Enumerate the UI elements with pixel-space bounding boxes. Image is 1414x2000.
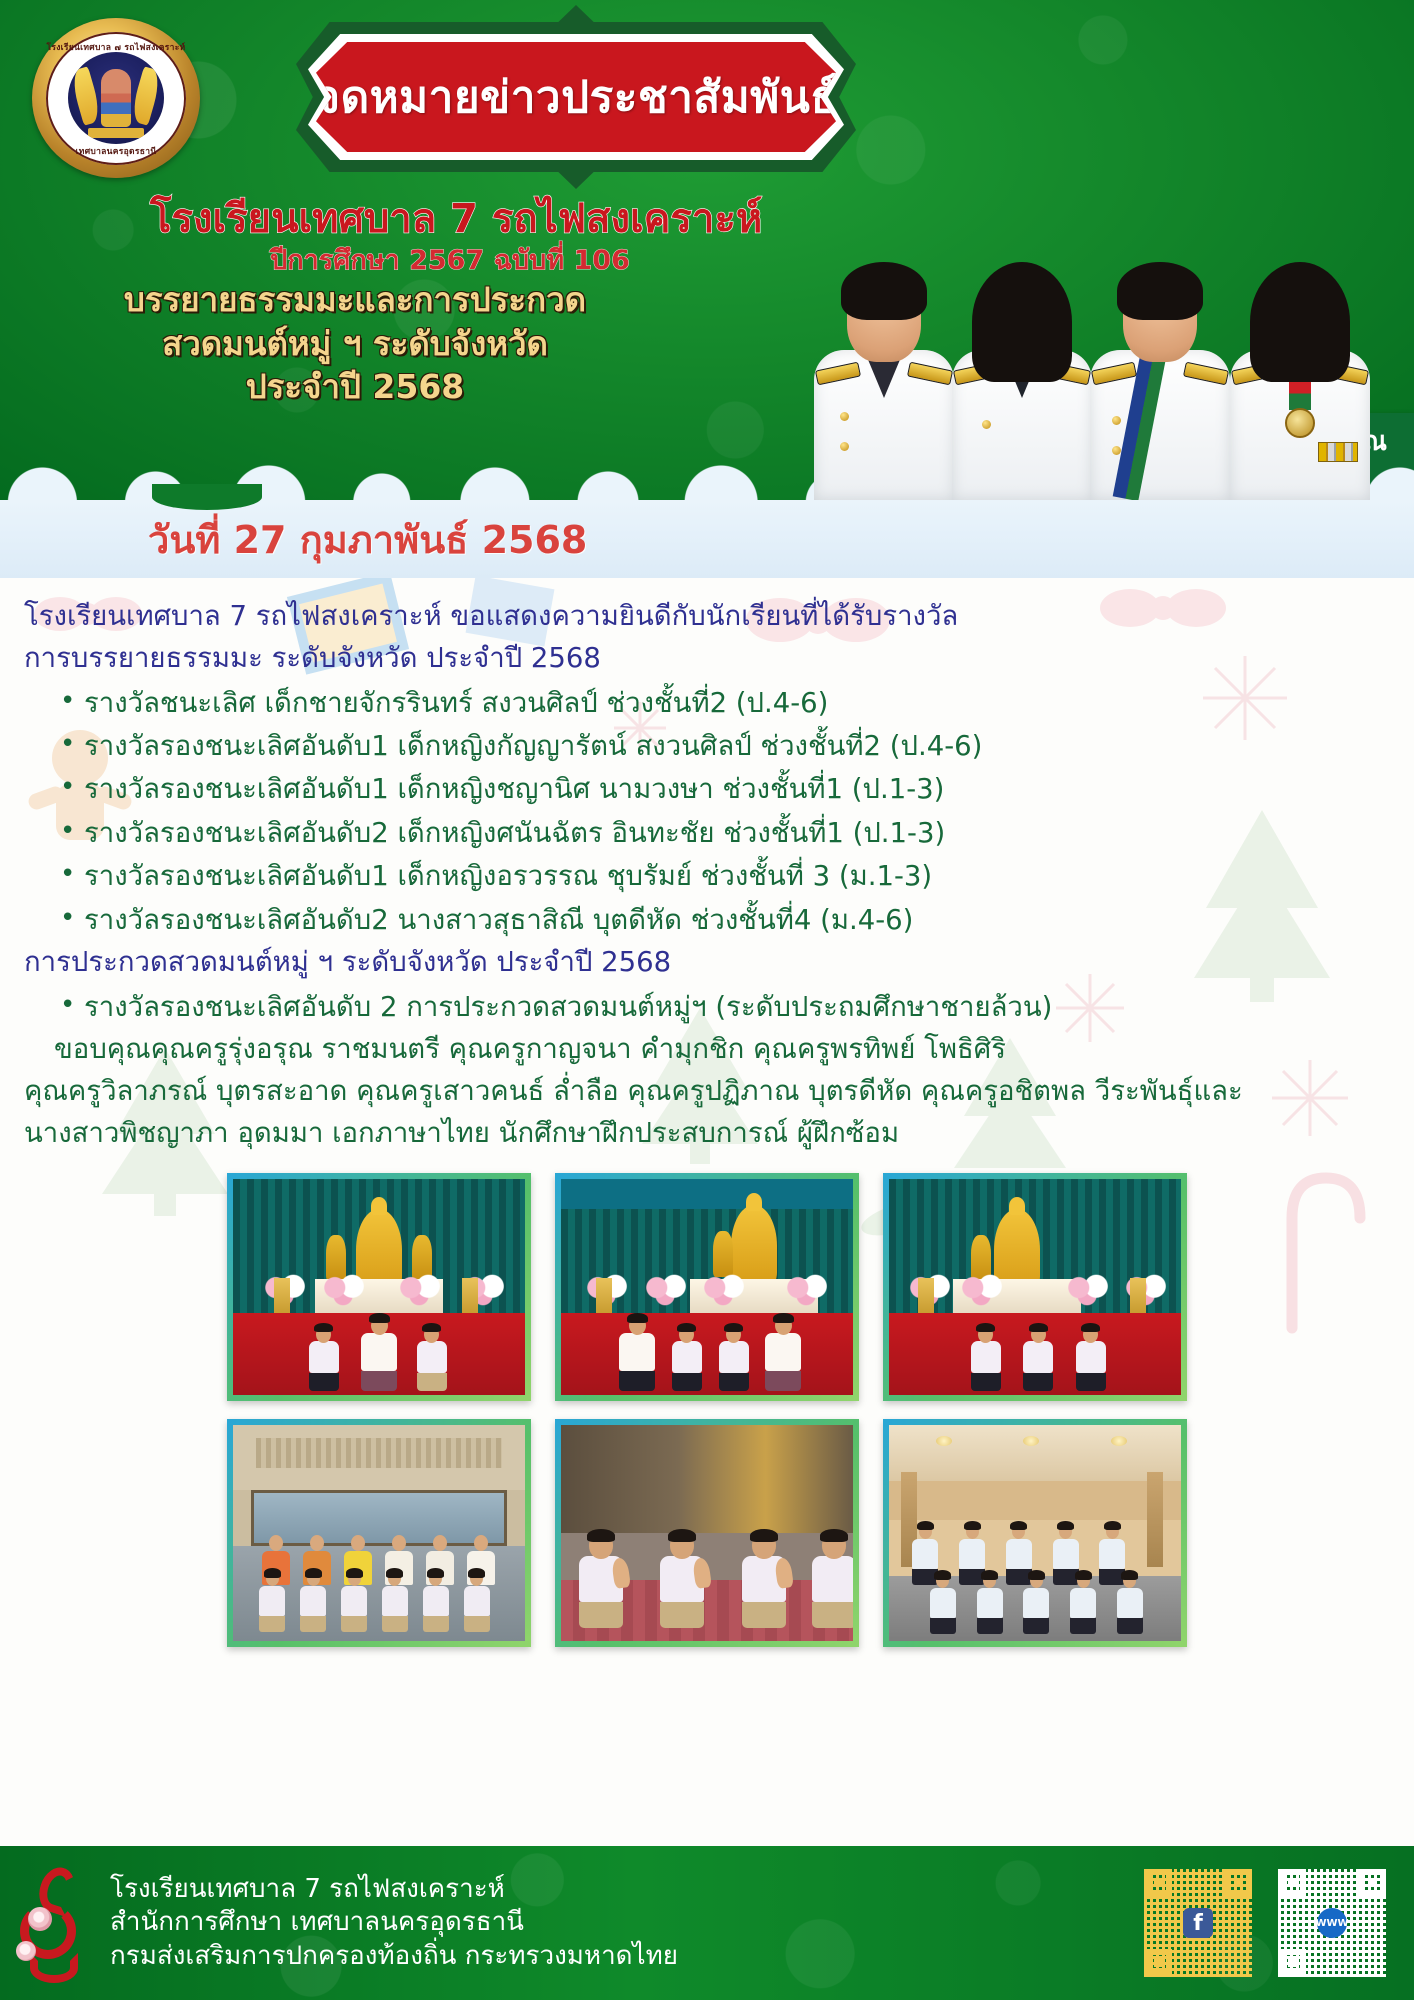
official-portrait-4	[1230, 270, 1370, 500]
qr-code-area: f WWW	[1144, 1869, 1386, 1977]
official-portrait-1	[814, 270, 954, 500]
thanks-line-1: ขอบคุณคุณครูรุ่งอรุณ ราชมนตรี คุณครูกาญจ…	[24, 1029, 1388, 1071]
topic-line-1: บรรยายธรรมมะและการประกวด	[20, 278, 690, 322]
poster-footer: โรงเรียนเทศบาล 7 รถไฟสงเคราะห์ สำนักการศ…	[0, 1846, 1414, 2000]
award-item: รางวัลรองชนะเลิศอันดับ2 เด็กหญิงศนันฉัตร…	[24, 812, 1388, 855]
qr-code-facebook[interactable]: f	[1144, 1869, 1252, 1977]
topic-line-2: สวดมนต์หมู่ ฯ ระดับจังหวัด	[20, 322, 690, 366]
footer-line-1: โรงเรียนเทศบาล 7 รถไฟสงเคราะห์	[110, 1873, 678, 1906]
photo-1	[227, 1173, 531, 1401]
official-portrait-2	[952, 270, 1092, 500]
award-item: รางวัลรองชนะเลิศอันดับ 2 การประกวดสวดมนต…	[24, 986, 1388, 1029]
thanks-line-2: คุณครูวิลาภรณ์ บุตรสะอาด คุณครูเสาวคนธ์ …	[24, 1071, 1388, 1113]
award-item: รางวัลรองชนะเลิศอันดับ1 เด็กหญิงชญานิศ น…	[24, 768, 1388, 811]
photo-4	[227, 1419, 531, 1647]
body-content: โรงเรียนเทศบาล 7 รถไฟสงเคราะห์ ขอแสดงควา…	[0, 578, 1414, 1155]
topic-line-3: ประจำปี 2568	[20, 365, 690, 409]
footer-line-2: สำนักการศึกษา เทศบาลนครอุดรธานี	[110, 1906, 678, 1939]
official-portrait-3	[1090, 270, 1230, 500]
photo-5	[555, 1419, 859, 1647]
issue-line: ปีการศึกษา 2567 ฉบับที่ 106	[150, 238, 750, 281]
newsletter-poster: โรงเรียนเทศบาล ๗ รถไฟสงเคราะห์ เทศบาลนคร…	[0, 0, 1414, 2000]
photo-6	[883, 1419, 1187, 1647]
green-drip-shape	[152, 484, 262, 510]
ribbon-label: จดหมายข่าวประชาสัมพันธ์	[314, 62, 837, 132]
intro-line-1: โรงเรียนเทศบาล 7 รถไฟสงเคราะห์ ขอแสดงควา…	[24, 596, 1388, 638]
award-item: รางวัลรองชนะเลิศอันดับ2 นางสาวสุธาสิณี บ…	[24, 899, 1388, 942]
newsletter-ribbon-banner: จดหมายข่าวประชาสัมพันธ์	[296, 22, 856, 172]
photo-3	[883, 1173, 1187, 1401]
section2-heading: การประกวดสวดมนต์หมู่ ฯ ระดับจังหวัด ประจ…	[24, 942, 1388, 984]
poster-header: โรงเรียนเทศบาล ๗ รถไฟสงเคราะห์ เทศบาลนคร…	[0, 0, 1414, 500]
photo-2	[555, 1173, 859, 1401]
thanks-line-3: นางสาวพิชญาภา อุดมมา เอกภาษาไทย นักศึกษา…	[24, 1113, 1388, 1155]
award-list-2: รางวัลรองชนะเลิศอันดับ 2 การประกวดสวดมนต…	[24, 986, 1388, 1029]
award-item: รางวัลรองชนะเลิศอันดับ1 เด็กหญิงกัญญารัต…	[24, 725, 1388, 768]
poster-body: โรงเรียนเทศบาล 7 รถไฟสงเคราะห์ ขอแสดงควา…	[0, 578, 1414, 1846]
qr-code-website[interactable]: WWW	[1278, 1869, 1386, 1977]
officials-photo-group: นางธนพร แก้วชารุณ ผู้อำนวยการสถานศึกษา	[774, 196, 1414, 500]
footer-line-3: กรมส่งเสริมการปกครองท้องถิ่น กระทรวงมหาด…	[110, 1940, 678, 1973]
date-band: วันที่ 27 กุมภาพันธ์ 2568	[0, 500, 1414, 578]
school-seal: โรงเรียนเทศบาล ๗ รถไฟสงเคราะห์ เทศบาลนคร…	[32, 18, 200, 178]
seal-emblem-icon	[68, 52, 164, 144]
globe-icon: WWW	[1317, 1908, 1347, 1938]
award-item: รางวัลชนะเลิศ เด็กชายจักรรินทร์ สงวนศิลป…	[24, 682, 1388, 725]
seal-bottom-text: เทศบาลนครอุดรธานี	[46, 144, 186, 158]
intro-line-2: การบรรยายธรรมมะ ระดับจังหวัด ประจำปี 256…	[24, 638, 1388, 680]
event-date: วันที่ 27 กุมภาพันธ์ 2568	[148, 509, 587, 570]
naga-serpent-icon	[14, 1863, 94, 1983]
footer-address: โรงเรียนเทศบาล 7 รถไฟสงเคราะห์ สำนักการศ…	[110, 1873, 678, 1973]
award-list-1: รางวัลชนะเลิศ เด็กชายจักรรินทร์ สงวนศิลป…	[24, 682, 1388, 943]
topic-heading: บรรยายธรรมมะและการประกวด สวดมนต์หมู่ ฯ ร…	[20, 278, 690, 409]
facebook-icon: f	[1183, 1908, 1213, 1938]
award-item: รางวัลรองชนะเลิศอันดับ1 เด็กหญิงอรวรรณ ช…	[24, 855, 1388, 898]
photo-grid	[0, 1173, 1414, 1647]
